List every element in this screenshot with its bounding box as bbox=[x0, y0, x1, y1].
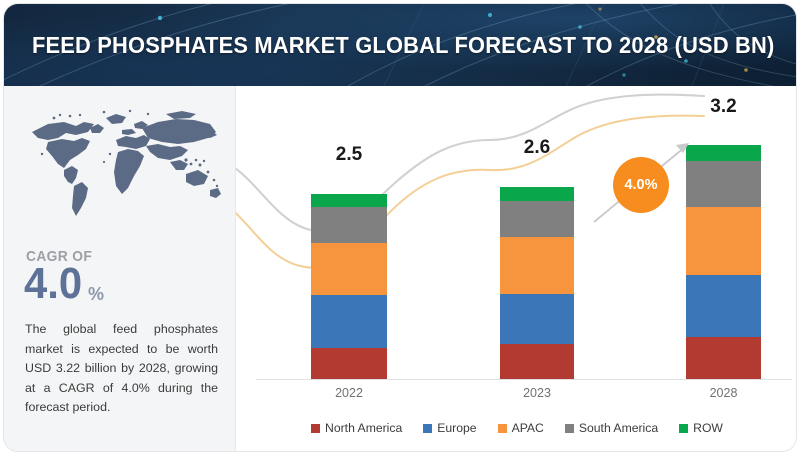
page-title: FEED PHOSPHATES MARKET GLOBAL FORECAST T… bbox=[32, 32, 774, 59]
cagr-bubble[interactable]: 4.0% bbox=[613, 157, 669, 213]
stacked-bar-chart: 2.5 2022 2.6 2023 3.2 2028 4.0% bbox=[236, 86, 797, 452]
summary-panel: CAGR OF 4.0 % The global feed phosphates… bbox=[4, 86, 235, 452]
cagr-percent-sign: % bbox=[88, 284, 104, 305]
infographic-card: FEED PHOSPHATES MARKET GLOBAL FORECAST T… bbox=[3, 3, 797, 452]
up-right-arrow-icon bbox=[236, 86, 797, 452]
summary-description: The global feed phosphates market is exp… bbox=[25, 320, 218, 418]
cagr-bubble-text: 4.0% bbox=[624, 177, 657, 193]
cagr-value: 4.0 bbox=[24, 262, 82, 306]
header-banner: FEED PHOSPHATES MARKET GLOBAL FORECAST T… bbox=[4, 4, 797, 86]
world-map-icon bbox=[18, 102, 223, 230]
